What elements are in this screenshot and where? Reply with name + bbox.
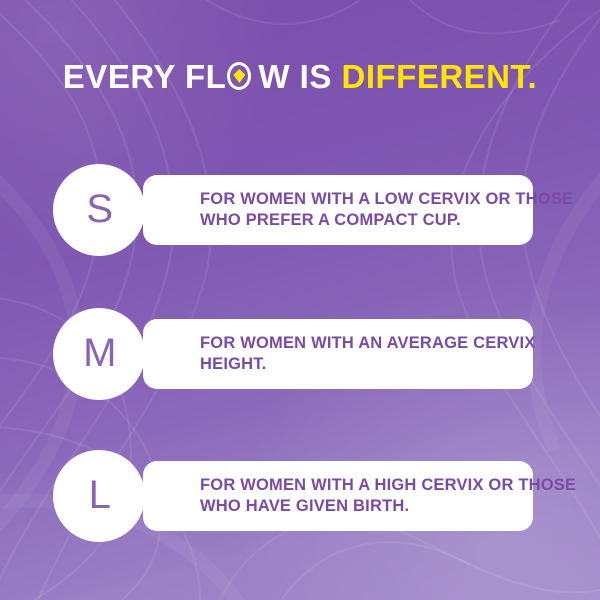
size-card-large[interactable]: L FOR WOMEN WITH A HIGH CERVIX OR THOSE … bbox=[53, 450, 533, 542]
size-description: FOR WOMEN WITH AN AVERAGE CERVIX HEIGHT. bbox=[200, 333, 580, 375]
size-letter: L bbox=[89, 475, 112, 515]
size-description: FOR WOMEN WITH A HIGH CERVIX OR THOSE WH… bbox=[200, 475, 580, 517]
size-letter: M bbox=[83, 333, 117, 373]
size-letter: S bbox=[86, 189, 113, 229]
size-card-medium[interactable]: M FOR WOMEN WITH AN AVERAGE CERVIX HEIGH… bbox=[53, 308, 533, 400]
size-letter-badge: L bbox=[53, 450, 145, 542]
size-card-small[interactable]: S FOR WOMEN WITH A LOW CERVIX OR THOSE W… bbox=[53, 164, 533, 256]
size-description: FOR WOMEN WITH A LOW CERVIX OR THOSE WHO… bbox=[200, 189, 580, 231]
poster-canvas: EVERY FLW IS DIFFERENT. S FOR WOMEN WITH… bbox=[0, 0, 600, 600]
size-letter-badge: M bbox=[53, 308, 145, 400]
size-letter-badge: S bbox=[53, 164, 145, 256]
size-cards-list: S FOR WOMEN WITH A LOW CERVIX OR THOSE W… bbox=[0, 0, 600, 600]
